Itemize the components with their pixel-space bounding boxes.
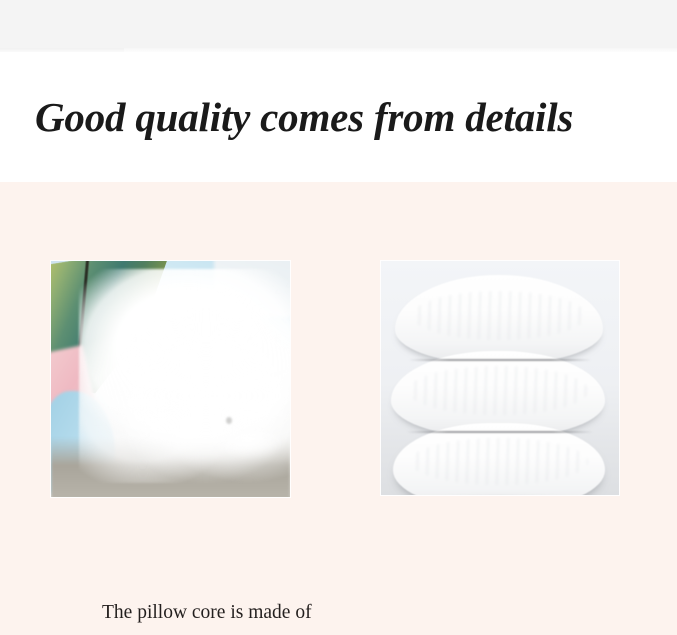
caption-pillow-core: The pillow core is made of high-resilien… xyxy=(102,593,312,635)
stacked-pillow-inserts-photo xyxy=(381,261,619,495)
cotton-fiber-image xyxy=(51,261,290,497)
feature-card-moisture-absorbent: Moisture-absorbent breathable and fits t… xyxy=(381,261,619,495)
product-detail-page: Good quality comes from details xyxy=(0,0,677,635)
cotton-fiber-shadow-dot xyxy=(226,417,232,424)
pillow-insert-top xyxy=(395,275,603,363)
pillow-seam-lower xyxy=(407,431,593,433)
caption-line: The pillow core is made of xyxy=(102,593,312,633)
page-title: Good quality comes from details xyxy=(35,97,573,138)
pillow-insert-bottom xyxy=(393,423,605,495)
heading-section: Good quality comes from details xyxy=(0,52,677,182)
stacked-pillow-inserts-image xyxy=(381,261,619,495)
cotton-fiber-wisp-right xyxy=(201,411,290,471)
features-section: The pillow core is made of high-resilien… xyxy=(0,182,677,635)
pillow-seam-upper xyxy=(409,359,591,361)
top-band xyxy=(0,0,677,52)
cotton-fiber-photo xyxy=(51,261,290,497)
feature-card-pillow-core: The pillow core is made of high-resilien… xyxy=(51,261,290,497)
cotton-fiber-wisp-left xyxy=(85,379,205,427)
